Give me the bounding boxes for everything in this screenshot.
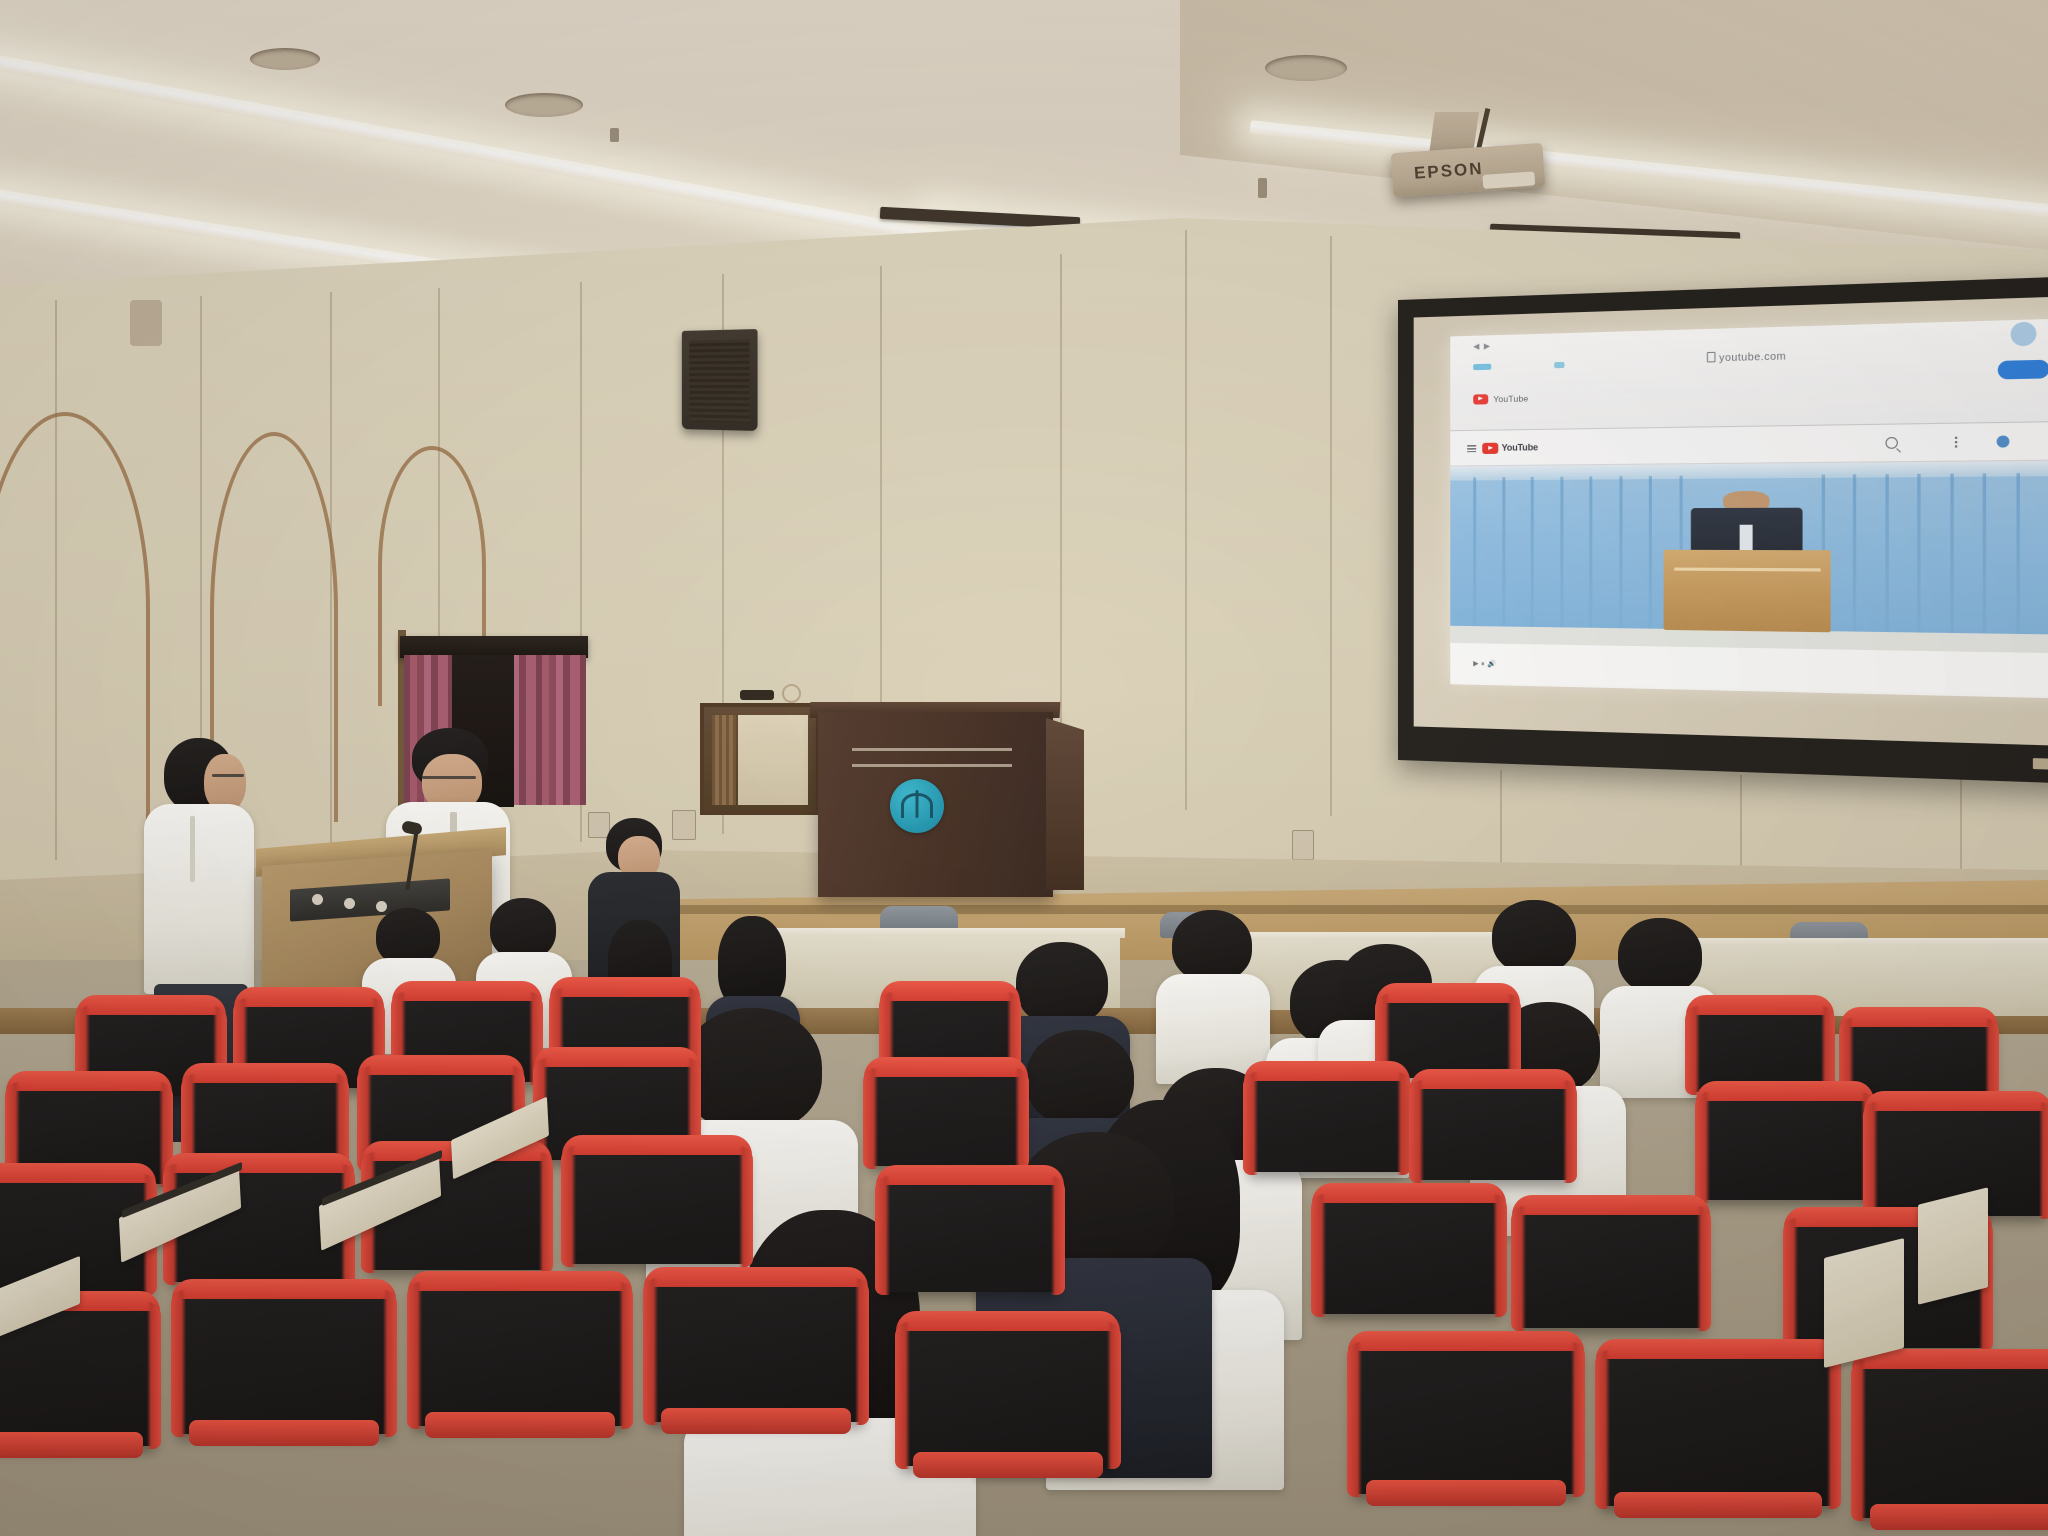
seat-cushion xyxy=(0,1432,143,1458)
seat-trim-right xyxy=(739,1146,753,1267)
av-console-knob[interactable] xyxy=(376,901,387,912)
wall-outlet-1 xyxy=(672,810,696,840)
projected-browser-window: ◀ ▶ youtube.com YouTube xyxy=(1450,319,2048,697)
curtain-fold xyxy=(1983,473,1986,652)
sprinkler-head xyxy=(1258,178,1267,198)
more-vertical-icon[interactable] xyxy=(1955,437,1957,448)
browser-blue-pill-button[interactable] xyxy=(1998,360,2048,380)
auditorium-seat[interactable] xyxy=(868,1062,1024,1166)
ceiling-vent-3 xyxy=(1265,55,1347,81)
sprinkler-head-2 xyxy=(610,128,619,142)
youtube-play-mark xyxy=(1483,442,1499,453)
av-console-knob[interactable] xyxy=(344,898,355,909)
seat-trim-right xyxy=(855,1278,869,1425)
speaker-grille xyxy=(689,339,749,422)
curtain-fold xyxy=(1649,476,1652,647)
torso-shirt xyxy=(144,804,254,994)
auditorium-seat[interactable] xyxy=(880,1170,1060,1292)
podium-accent-line-2 xyxy=(852,764,1012,767)
seat-trim-right xyxy=(1571,1342,1585,1497)
head-hair xyxy=(1618,918,1702,994)
curtain-fold xyxy=(1950,473,1953,651)
wall-outlet-2 xyxy=(1292,830,1314,860)
ceiling-vent-1 xyxy=(250,48,320,70)
seat-cushion xyxy=(913,1452,1103,1478)
youtube-favicon xyxy=(1473,394,1488,404)
divider-slats xyxy=(712,715,736,805)
fold-down-tablet-arm[interactable] xyxy=(1824,1238,1904,1368)
seat-trim-right xyxy=(1107,1322,1121,1469)
auditorium-seat[interactable] xyxy=(566,1140,748,1264)
seat-trim-right xyxy=(1493,1194,1507,1317)
video-meta-text: ▶ ⏸ 🔊 xyxy=(1473,659,1496,669)
corner-speaker-small xyxy=(130,300,162,346)
head-hair xyxy=(1026,1030,1134,1126)
auditorium-seat[interactable] xyxy=(1516,1200,1706,1328)
divider-ring-object xyxy=(782,684,801,703)
seat-trim-right xyxy=(383,1290,397,1437)
seat-trim-right xyxy=(1563,1080,1577,1183)
seat-trim-right xyxy=(1507,994,1521,1081)
glasses-icon xyxy=(422,776,476,779)
auditorium-seat[interactable] xyxy=(176,1284,392,1434)
head-hair xyxy=(1016,942,1108,1026)
school-crest-emblem xyxy=(890,779,944,833)
curtain-fold xyxy=(2016,473,2020,653)
projection-screen-surface: ◀ ▶ youtube.com YouTube xyxy=(1414,296,2048,747)
bookmark-label: YouTube xyxy=(1493,393,1528,404)
auditorium-seat[interactable] xyxy=(1248,1066,1406,1172)
curtain-fold xyxy=(1853,474,1856,650)
podium-accent-line-1 xyxy=(852,748,1012,751)
browser-bookmark-youtube[interactable]: YouTube xyxy=(1473,393,1528,404)
youtube-video-player[interactable] xyxy=(1450,461,2048,654)
youtube-video-meta-row: ▶ ⏸ 🔊 xyxy=(1450,643,2048,699)
ceiling-vent-2 xyxy=(505,93,583,117)
video-speaker-tie xyxy=(1740,525,1753,553)
curtain-fold xyxy=(1589,476,1592,645)
browser-chrome: ◀ ▶ youtube.com YouTube xyxy=(1450,319,2048,431)
divider-top-object xyxy=(740,690,774,700)
hamburger-icon[interactable] xyxy=(1467,445,1476,452)
search-icon[interactable] xyxy=(1886,437,1898,449)
browser-address-bar[interactable]: youtube.com xyxy=(1707,349,1786,365)
lock-icon xyxy=(1707,352,1716,363)
curtain-fold xyxy=(1473,477,1476,643)
stage-edge xyxy=(620,905,2048,914)
seat-trim-right xyxy=(1051,1176,1065,1295)
head-hair xyxy=(1492,900,1576,974)
avatar-icon[interactable] xyxy=(1997,436,2010,448)
auditorium-photo: EPSON ◀ ▶ youtube.com xyxy=(0,0,2048,1536)
head-hair xyxy=(682,1008,822,1132)
curtain-fold xyxy=(1531,477,1534,645)
auditorium-seat[interactable] xyxy=(1600,1344,1836,1506)
curtain-fold xyxy=(1918,474,1921,651)
video-podium xyxy=(1664,550,1831,632)
browser-toolbar-circle-icon xyxy=(2011,322,2037,347)
projector-lens xyxy=(1482,171,1535,189)
seat-trim-right xyxy=(2039,1102,2048,1219)
wall-speaker xyxy=(682,329,758,431)
auditorium-seat[interactable] xyxy=(412,1276,628,1426)
wall-seam-10 xyxy=(1330,236,1332,816)
seat-trim-right xyxy=(1827,1350,1841,1509)
auditorium-seat[interactable] xyxy=(1352,1336,1580,1494)
projection-screen: ◀ ▶ youtube.com YouTube xyxy=(1398,275,2048,784)
curtain-fold xyxy=(1502,477,1505,644)
screen-brand-badge xyxy=(2033,758,2048,770)
glasses-icon xyxy=(212,774,244,777)
auditorium-seat[interactable] xyxy=(648,1272,864,1422)
auditorium-seat[interactable] xyxy=(900,1316,1116,1466)
browser-tab-strip: ◀ ▶ xyxy=(1473,341,1490,351)
lanyard xyxy=(190,816,195,882)
seat-trim-right xyxy=(1015,1068,1029,1169)
wall-seam-9 xyxy=(1185,230,1187,810)
seat-trim-right xyxy=(539,1152,553,1273)
auditorium-seat[interactable] xyxy=(1700,1086,1870,1200)
divider-pane xyxy=(738,715,808,805)
seat-cushion xyxy=(1870,1504,2048,1530)
wall-arch-trim-1 xyxy=(0,412,150,842)
seat-cushion xyxy=(1614,1492,1822,1518)
av-console-knob[interactable] xyxy=(312,894,323,905)
auditorium-seat[interactable] xyxy=(1414,1074,1572,1180)
address-bar-url: youtube.com xyxy=(1719,351,1786,364)
projector-brand-label: EPSON xyxy=(1413,159,1484,184)
seat-trim-right xyxy=(1697,1206,1711,1331)
seat-cushion xyxy=(189,1420,379,1446)
head-hair xyxy=(1172,910,1252,982)
seat-cushion xyxy=(425,1412,615,1438)
auditorium-seat[interactable] xyxy=(1316,1188,1502,1314)
curtain-fold xyxy=(1619,476,1622,646)
head-hair xyxy=(490,898,556,960)
youtube-logo[interactable]: YouTube xyxy=(1483,442,1538,454)
curtain-fold xyxy=(1885,474,1888,651)
wooden-room-divider xyxy=(700,703,820,815)
podium-side-panel xyxy=(1046,718,1084,890)
auditorium-seat[interactable] xyxy=(1856,1354,2048,1518)
curtain-fold xyxy=(1560,476,1563,644)
browser-tab-favicon-2 xyxy=(1554,362,1564,368)
youtube-wordmark: YouTube xyxy=(1502,442,1538,453)
auditorium-seat[interactable] xyxy=(1690,1000,1830,1092)
fold-down-tablet-arm[interactable] xyxy=(1918,1187,1988,1304)
seat-trim-right xyxy=(619,1282,633,1429)
seat-cushion xyxy=(661,1408,851,1434)
seat-cushion xyxy=(1366,1480,1567,1506)
seat-trim-right xyxy=(147,1302,161,1449)
browser-tab-favicon-1 xyxy=(1473,364,1491,371)
